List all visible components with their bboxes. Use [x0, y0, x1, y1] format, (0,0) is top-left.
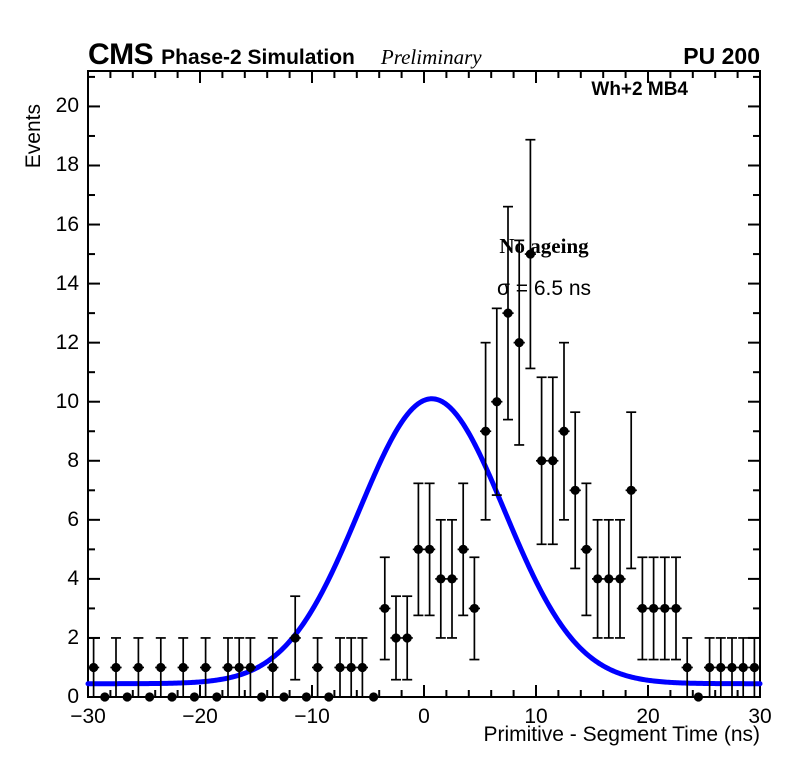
x-tick-label: 30 [748, 705, 771, 729]
data-point-marker [615, 574, 624, 583]
data-point-marker [559, 427, 568, 436]
data-point-marker [89, 663, 98, 672]
data-point-marker [425, 545, 434, 554]
cms-status-preliminary: Preliminary [381, 47, 482, 68]
pileup-label: PU 200 [683, 45, 760, 68]
data-point-marker [123, 692, 132, 701]
data-point-marker [481, 427, 490, 436]
data-point-marker [212, 692, 221, 701]
data-point-marker [313, 663, 322, 672]
y-tick-label: 0 [67, 685, 79, 709]
data-point-marker [335, 663, 344, 672]
x-tick-label: −10 [294, 705, 330, 729]
annotation-ageing: No ageing [499, 234, 588, 259]
data-point-marker [179, 663, 188, 672]
x-tick-label: 10 [524, 705, 547, 729]
plot-frame [88, 71, 760, 697]
y-tick-label: 20 [56, 94, 79, 118]
data-point-marker [638, 604, 647, 613]
data-point-marker [694, 692, 703, 701]
data-point-marker [436, 574, 445, 583]
data-point-marker [470, 604, 479, 613]
y-tick-label: 6 [67, 508, 79, 532]
annotation-sigma: σ = 6.5 ns [497, 277, 591, 301]
x-tick-label: 0 [418, 705, 430, 729]
data-point-marker [257, 692, 266, 701]
x-tick-label: 20 [636, 705, 659, 729]
data-point-marker [414, 545, 423, 554]
data-point-marker [447, 574, 456, 583]
data-point-marker [627, 486, 636, 495]
data-point-marker [134, 663, 143, 672]
x-tick-label: −20 [182, 705, 218, 729]
data-point-marker [324, 692, 333, 701]
data-point-marker [156, 663, 165, 672]
y-axis-title: Events [22, 104, 46, 168]
cms-header: CMS Phase-2 Simulation Preliminary PU 20… [88, 40, 760, 70]
data-point-marker [391, 633, 400, 642]
wheel-station-label: Wh+2 MB4 [591, 79, 688, 101]
data-point-marker [503, 309, 512, 318]
data-point-marker [716, 663, 725, 672]
data-point-marker [492, 397, 501, 406]
data-point-marker [223, 663, 232, 672]
cms-subtitle: Phase-2 Simulation [161, 47, 355, 68]
data-point-marker [111, 663, 120, 672]
data-point-marker [369, 692, 378, 701]
data-point-marker [537, 456, 546, 465]
data-point-marker [145, 692, 154, 701]
figure-root: CMS Phase-2 Simulation Preliminary PU 20… [0, 0, 796, 772]
y-tick-label: 10 [56, 390, 79, 414]
data-points-group [88, 140, 760, 702]
data-point-marker [660, 604, 669, 613]
plot-canvas [0, 0, 796, 772]
data-point-marker [380, 604, 389, 613]
data-point-marker [246, 663, 255, 672]
data-point-marker [167, 692, 176, 701]
data-point-marker [593, 574, 602, 583]
y-tick-label: 16 [56, 213, 79, 237]
data-point-marker [548, 456, 557, 465]
y-tick-label: 2 [67, 626, 79, 650]
data-point-marker [727, 663, 736, 672]
data-point-marker [302, 692, 311, 701]
data-point-marker [100, 692, 109, 701]
y-tick-label: 8 [67, 449, 79, 473]
data-point-marker [604, 574, 613, 583]
data-point-marker [291, 633, 300, 642]
data-point-marker [683, 663, 692, 672]
data-point-marker [190, 692, 199, 701]
data-point-marker [358, 663, 367, 672]
data-point-marker [403, 633, 412, 642]
data-point-marker [649, 604, 658, 613]
data-point-marker [459, 545, 468, 554]
y-tick-label: 18 [56, 153, 79, 177]
y-tick-label: 4 [67, 567, 79, 591]
data-point-marker [279, 692, 288, 701]
data-point-marker [235, 663, 244, 672]
data-point-marker [671, 604, 680, 613]
data-point-marker [571, 486, 580, 495]
data-point-marker [347, 663, 356, 672]
cms-logo: CMS [88, 40, 153, 70]
data-point-marker [750, 663, 759, 672]
gaussian-fit-curve [88, 399, 760, 684]
y-tick-label: 12 [56, 331, 79, 355]
data-point-marker [705, 663, 714, 672]
data-point-marker [201, 663, 210, 672]
data-point-marker [582, 545, 591, 554]
data-point-marker [739, 663, 748, 672]
y-tick-label: 14 [56, 272, 79, 296]
data-point-marker [515, 338, 524, 347]
data-point-marker [268, 663, 277, 672]
